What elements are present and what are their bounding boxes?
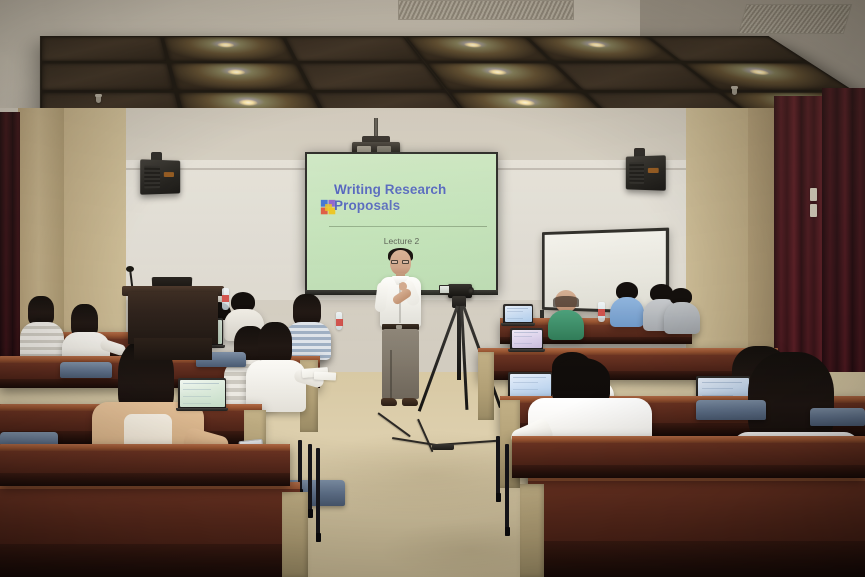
desk-side-panel-row5-right [520, 484, 544, 577]
ceiling-coffer-cell [40, 36, 168, 62]
laptop-base [508, 349, 545, 352]
microphone-icon [126, 266, 134, 272]
light-switch-lower[interactable] [810, 204, 817, 217]
slide-title-line2: Proposals [334, 198, 400, 213]
chair-back-9[interactable] [810, 408, 865, 426]
desk-front-face [512, 443, 865, 478]
student-torso [610, 297, 644, 327]
chair-back-1[interactable] [60, 362, 112, 378]
student-torso [664, 302, 700, 334]
desk-side-panel-row2-right [478, 352, 494, 420]
student-torso [548, 310, 584, 340]
slide-subtitle: Lecture 2 [307, 236, 496, 246]
laptop-row2-left[interactable] [510, 328, 543, 349]
paper-on-desk-right[interactable] [314, 371, 336, 380]
chair-leg-5 [496, 436, 500, 502]
lecturer-trouser-seam [390, 350, 392, 398]
lecturer-hand [399, 282, 407, 291]
floor-cable-connector [432, 444, 454, 450]
desk-row4-center-right [512, 436, 865, 478]
laptop-base [501, 323, 535, 326]
desk-top-edge [0, 444, 290, 451]
speaker-grille-icon [144, 166, 160, 189]
wall-speaker-right [626, 155, 666, 190]
speaker-badge [648, 168, 659, 173]
lecturer [372, 250, 428, 415]
desk-row4-center-left [0, 444, 290, 486]
air-vent-top-right [738, 4, 853, 34]
coffer-downlight [514, 100, 538, 106]
lecturer-glasses-icon [391, 260, 410, 264]
ceiling-coffer-cell [283, 36, 425, 62]
student-hair-fringe [553, 296, 579, 307]
desk-front-face [528, 481, 865, 577]
desk-apron [528, 541, 865, 577]
chair-leg-6 [505, 444, 509, 536]
slide-title-line1: Writing Research [334, 182, 446, 197]
coffer-downlight [586, 43, 608, 48]
water-bottle-podium[interactable] [222, 288, 229, 310]
chair-back-6[interactable] [696, 400, 766, 420]
desk-side-panel-row5-left [282, 492, 308, 577]
slide-title: Writing Research Proposals [334, 182, 484, 215]
ceiling-coffer-cell [296, 62, 447, 91]
coffer-downlight [487, 69, 510, 75]
ceiling-coffer-cell [168, 62, 311, 91]
desk-top-edge [512, 436, 865, 443]
lecturer-shoe-left [381, 398, 397, 406]
water-bottle-desk-right[interactable] [598, 302, 605, 322]
ceiling-coffer-cell [40, 62, 176, 91]
coffer-downlight [217, 43, 235, 48]
laptop-lid [178, 378, 226, 408]
chair-leg-3 [308, 444, 312, 518]
laptop-screen [512, 330, 542, 348]
lecturer-trousers [382, 329, 419, 399]
desk-apron [0, 473, 290, 486]
speaker-grille-icon [629, 162, 644, 184]
water-bottle-desk-center[interactable] [336, 312, 342, 330]
camera-lens-icon [468, 287, 474, 294]
lecturer-shoe-right [402, 398, 418, 406]
laptop-row1-a[interactable] [503, 304, 533, 323]
laptop-screen [510, 374, 551, 399]
laptop-row4-left[interactable] [178, 378, 226, 408]
desk-row5-left-foreground [0, 482, 300, 577]
ceiling-coffer-cell [161, 36, 296, 62]
lecture-hall-scene: Writing Research Proposals Lecture 2 [0, 0, 865, 577]
sprinkler-head-3 [732, 88, 737, 95]
speaker-badge [164, 172, 174, 177]
coffer-downlight [238, 100, 259, 106]
desk-front-face [0, 451, 290, 486]
desk-apron [0, 544, 300, 577]
coffer-downlight [227, 69, 247, 75]
air-vent-top-center [398, 0, 574, 20]
laptop-screen [505, 306, 532, 322]
desk-front-face [0, 489, 300, 577]
podium-base [134, 338, 212, 360]
laptop-screen [180, 380, 225, 407]
camcorder-lcd-screen [439, 285, 450, 294]
laptop-lid [503, 304, 533, 323]
light-switch-upper[interactable] [810, 188, 817, 201]
podium [128, 292, 218, 344]
desk-row5-right-foreground [528, 474, 865, 577]
sprinkler-head-1 [96, 96, 101, 103]
wall-speaker-left [140, 159, 180, 194]
coffer-downlight [747, 69, 772, 75]
laptop-lid [510, 328, 543, 349]
slide-divider-rule [329, 226, 487, 227]
laptop-base [176, 408, 228, 411]
desk-apron [512, 465, 865, 478]
coffer-downlight [463, 43, 484, 48]
chair-leg-4 [316, 448, 320, 542]
